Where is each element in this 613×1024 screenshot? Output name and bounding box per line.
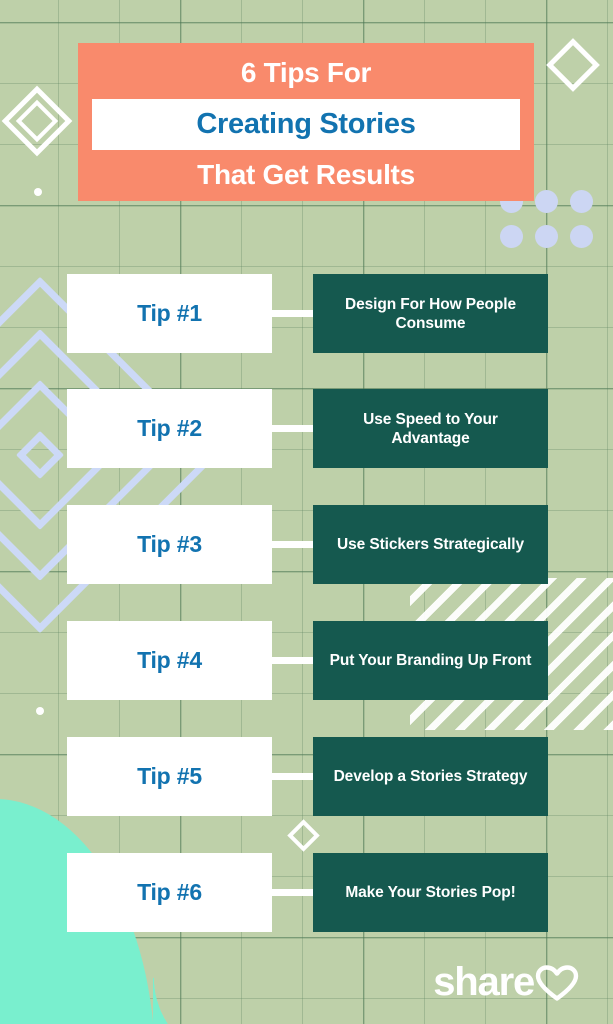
tip-description-2: Use Speed to Your Advantage [323,410,538,448]
tip-row-1: Tip #1 Design For How People Consume [0,274,613,353]
tip-connector-6 [272,889,314,896]
tip-row-6: Tip #6 Make Your Stories Pop! [0,853,613,932]
tip-description-box-3[interactable]: Use Stickers Strategically [313,505,548,584]
tips-list: Tip #1 Design For How People Consume Tip… [0,0,613,1024]
tip-description-1: Design For How People Consume [323,295,538,333]
tip-description-4: Put Your Branding Up Front [330,651,532,670]
infographic-poster: 6 Tips For Creating Stories That Get Res… [0,0,613,1024]
tip-connector-2 [272,425,314,432]
tip-connector-1 [272,310,314,317]
share-logo[interactable]: share [433,962,579,1002]
tip-row-2: Tip #2 Use Speed to Your Advantage [0,389,613,468]
tip-label-1: Tip #1 [137,300,202,327]
tip-label-box-2[interactable]: Tip #2 [67,389,272,468]
tip-label-box-6[interactable]: Tip #6 [67,853,272,932]
tip-description-box-5[interactable]: Develop a Stories Strategy [313,737,548,816]
tip-connector-3 [272,541,314,548]
tip-label-6: Tip #6 [137,879,202,906]
tip-label-box-3[interactable]: Tip #3 [67,505,272,584]
tip-description-6: Make Your Stories Pop! [345,883,515,902]
tip-label-3: Tip #3 [137,531,202,558]
tip-label-5: Tip #5 [137,763,202,790]
tip-label-box-4[interactable]: Tip #4 [67,621,272,700]
logo-wordmark: share [433,962,534,1002]
tip-connector-5 [272,773,314,780]
tip-connector-4 [272,657,314,664]
tip-description-box-2[interactable]: Use Speed to Your Advantage [313,389,548,468]
tip-description-box-1[interactable]: Design For How People Consume [313,274,548,353]
heart-outline-icon [535,965,579,1003]
tip-row-4: Tip #4 Put Your Branding Up Front [0,621,613,700]
tip-description-box-6[interactable]: Make Your Stories Pop! [313,853,548,932]
tip-label-2: Tip #2 [137,415,202,442]
tip-label-box-5[interactable]: Tip #5 [67,737,272,816]
tip-row-5: Tip #5 Develop a Stories Strategy [0,737,613,816]
tip-description-3: Use Stickers Strategically [337,535,524,554]
tip-row-3: Tip #3 Use Stickers Strategically [0,505,613,584]
tip-description-5: Develop a Stories Strategy [334,767,528,786]
tip-description-box-4[interactable]: Put Your Branding Up Front [313,621,548,700]
tip-label-4: Tip #4 [137,647,202,674]
tip-label-box-1[interactable]: Tip #1 [67,274,272,353]
